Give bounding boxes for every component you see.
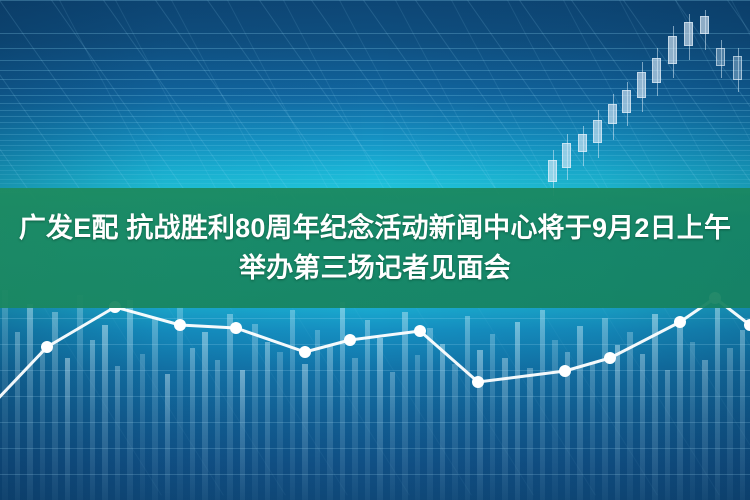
promo-banner-image: 广发E配 抗战胜利80周年纪念活动新闻中心将于9月2日上午 举办第三场记者见面会 (0, 0, 750, 500)
trend-line-marker (174, 319, 186, 331)
trend-line-marker (344, 334, 356, 346)
headline-block: 广发E配 抗战胜利80周年纪念活动新闻中心将于9月2日上午 举办第三场记者见面会 (0, 188, 750, 308)
trend-line-marker (674, 316, 686, 328)
trend-line-marker (414, 325, 426, 337)
trend-line-marker (472, 376, 484, 388)
trend-line-marker (41, 341, 53, 353)
headline-line-1: 广发E配 抗战胜利80周年纪念活动新闻中心将于9月2日上午 (19, 211, 731, 245)
trend-line-marker (230, 322, 242, 334)
trend-line-path (0, 298, 750, 405)
trend-line-marker (559, 365, 571, 377)
trend-line-marker (299, 346, 311, 358)
trend-line-marker (604, 352, 616, 364)
headline-line-2: 举办第三场记者见面会 (239, 251, 511, 285)
